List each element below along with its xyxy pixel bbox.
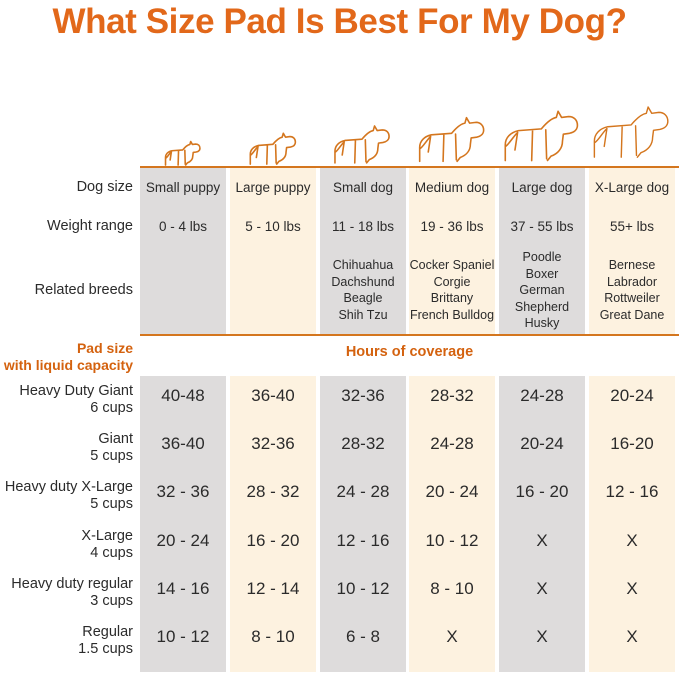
cell-weight-range-4: 19 - 36 lbs [409,218,495,235]
cell-coverage-r3-c5: 16 - 20 [499,483,585,500]
cell-coverage-r5-c4: 8 - 10 [409,580,495,597]
cell-dog-size-3: Small dog [320,179,406,196]
cell-coverage-r6-c2: 8 - 10 [230,628,316,645]
pad-row-name-6: Regular [0,624,133,641]
cell-coverage-r5-c3: 10 - 12 [320,580,406,597]
page-title: What Size Pad Is Best For My Dog? [0,2,679,42]
cell-coverage-r6-c6: X [589,628,675,645]
row-label-weight-range: Weight range [0,218,133,235]
pad-row-capacity-6: 1.5 cups [0,641,133,658]
cell-coverage-r5-c2: 12 - 14 [230,580,316,597]
cell-dog-size-1: Small puppy [140,179,226,196]
cell-dog-size-5: Large dog [499,179,585,196]
cell-coverage-r5-c6: X [589,580,675,597]
dog-icon-x-large-dog [589,98,675,168]
cell-coverage-r6-c3: 6 - 8 [320,628,406,645]
cell-coverage-r2-c6: 16-20 [589,435,675,452]
cell-weight-range-6: 55+ lbs [589,218,675,235]
row-label-dog-size: Dog size [0,179,133,196]
cell-coverage-r4-c2: 16 - 20 [230,532,316,549]
cell-coverage-r5-c1: 14 - 16 [140,580,226,597]
cell-coverage-r1-c5: 24-28 [499,387,585,404]
dog-icon-small-dog [320,122,406,168]
divider-middle [140,334,679,336]
pad-row-capacity-5: 3 cups [0,593,133,610]
dog-icon-small-puppy [140,139,226,168]
dog-icon-row [140,74,679,168]
row-label-related-breeds: Related breeds [0,282,133,299]
pad-row-capacity-2: 5 cups [0,448,133,465]
hours-of-coverage-heading: Hours of coverage [140,344,679,360]
cell-coverage-r1-c3: 32-36 [320,387,406,404]
cell-breeds-6: BerneseLabradorRottweilerGreat Dane [589,257,675,323]
cell-coverage-r2-c3: 28-32 [320,435,406,452]
cell-breeds-3: ChihuahuaDachshundBeagleShih Tzu [320,257,406,323]
cell-coverage-r3-c3: 24 - 28 [320,483,406,500]
cell-coverage-r6-c4: X [409,628,495,645]
pad-row-capacity-3: 5 cups [0,496,133,513]
cell-coverage-r3-c4: 20 - 24 [409,483,495,500]
cell-coverage-r3-c2: 28 - 32 [230,483,316,500]
dog-icon-large-dog [499,106,585,168]
pad-row-name-1: Heavy Duty Giant [0,383,133,400]
pad-size-label-line2: with liquid capacity [0,357,133,374]
pad-row-name-2: Giant [0,431,133,448]
cell-coverage-r4-c6: X [589,532,675,549]
cell-coverage-r6-c5: X [499,628,585,645]
cell-weight-range-5: 37 - 55 lbs [499,218,585,235]
cell-coverage-r2-c5: 20-24 [499,435,585,452]
cell-coverage-r4-c4: 10 - 12 [409,532,495,549]
cell-coverage-r4-c3: 12 - 16 [320,532,406,549]
cell-coverage-r2-c1: 36-40 [140,435,226,452]
cell-dog-size-2: Large puppy [230,179,316,196]
cell-coverage-r2-c2: 32-36 [230,435,316,452]
cell-coverage-r3-c1: 32 - 36 [140,483,226,500]
cell-dog-size-4: Medium dog [409,179,495,196]
pad-row-name-3: Heavy duty X-Large [0,479,133,496]
pad-row-name-5: Heavy duty regular [0,576,133,593]
cell-coverage-r2-c4: 24-28 [409,435,495,452]
cell-weight-range-3: 11 - 18 lbs [320,218,406,235]
pad-row-name-4: X-Large [0,528,133,545]
dog-icon-large-puppy [230,130,316,169]
pad-row-capacity-4: 4 cups [0,545,133,562]
cell-dog-size-6: X-Large dog [589,179,675,196]
cell-coverage-r1-c1: 40-48 [140,387,226,404]
cell-coverage-r5-c5: X [499,580,585,597]
cell-coverage-r1-c2: 36-40 [230,387,316,404]
cell-weight-range-1: 0 - 4 lbs [140,218,226,235]
dog-icon-medium-dog [409,113,495,168]
cell-breeds-5: PoodleBoxerGermanShepherdHusky [499,249,585,332]
pad-size-label-line1: Pad size [0,340,133,357]
pad-row-capacity-1: 6 cups [0,400,133,417]
cell-coverage-r1-c4: 28-32 [409,387,495,404]
cell-breeds-4: Cocker SpanielCorgieBrittanyFrench Bulld… [409,257,495,323]
cell-weight-range-2: 5 - 10 lbs [230,218,316,235]
cell-coverage-r4-c5: X [499,532,585,549]
cell-coverage-r6-c1: 10 - 12 [140,628,226,645]
cell-coverage-r3-c6: 12 - 16 [589,483,675,500]
cell-coverage-r1-c6: 20-24 [589,387,675,404]
cell-coverage-r4-c1: 20 - 24 [140,532,226,549]
